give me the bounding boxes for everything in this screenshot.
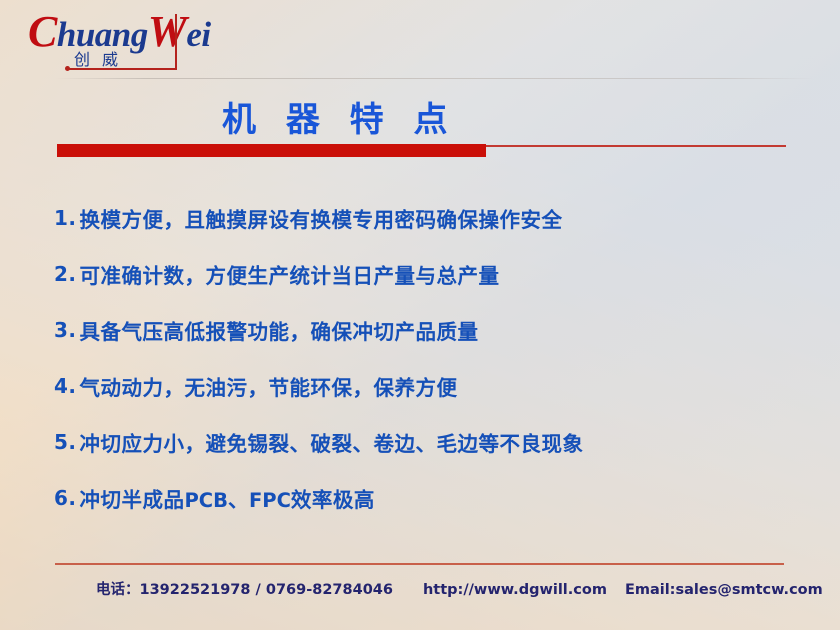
list-item: 4. 气动动力，无油污，节能环保，保养方便 [54,358,794,414]
logo-chinese-name: 创威 [74,46,130,70]
list-item-label-separator: 、 [228,488,249,512]
list-item: 3. 具备气压高低报警功能，确保冲切产品质量 [54,302,794,358]
list-item-label-fpc: FPC [249,489,291,512]
footer-divider [55,563,784,565]
company-logo: ChuangWei 创威 [26,10,182,72]
list-item: 2. 可准确计数，方便生产统计当日产量与总产量 [54,246,794,302]
list-item-label: 具备气压高低报警功能，确保冲切产品质量 [80,315,479,345]
list-item-number: 6. [54,486,77,510]
title-accent-rule [486,145,786,147]
list-item-number: 4. [54,374,77,398]
list-item: 5. 冲切应力小，避免锡裂、破裂、卷边、毛边等不良现象 [54,414,794,470]
logo-letter-w: W [148,7,187,56]
list-item-label: 冲切应力小，避免锡裂、破裂、卷边、毛边等不良现象 [80,427,584,457]
list-item-number: 2. [54,262,77,286]
list-item-label-pre: 冲切半成品 [80,488,185,512]
footer-phone-label: 电话： [96,578,140,599]
list-item-number: 3. [54,318,77,342]
footer-website-link[interactable]: http://www.dgwill.com [423,582,607,598]
list-item-label-pcb: PCB [185,489,228,512]
slide-canvas: ChuangWei 创威 机 器 特 点 1. 换模方便，且触摸屏设有换模专用密… [0,0,840,630]
feature-list: 1. 换模方便，且触摸屏设有换模专用密码确保操作安全 2. 可准确计数，方便生产… [54,190,794,526]
list-item-label: 可准确计数，方便生产统计当日产量与总产量 [80,259,500,289]
list-item: 6. 冲切半成品PCB、FPC效率极高 [54,470,794,526]
logo-letters-ei: ei [186,15,210,54]
list-item: 1. 换模方便，且触摸屏设有换模专用密码确保操作安全 [54,190,794,246]
list-item-label-post: 效率极高 [291,488,375,512]
footer-contact-bar: 电话：13922521978 / 0769-82784046http://www… [96,578,823,599]
footer-email-link[interactable]: Email:sales@smtcw.com [625,582,823,598]
list-item-number: 5. [54,430,77,454]
logo-frame-dot [65,66,70,71]
logo-frame-right-edge [175,14,177,70]
list-item-label: 换模方便，且触摸屏设有换模专用密码确保操作安全 [80,203,563,233]
title-accent-bar [57,144,486,157]
logo-frame-bottom-edge [69,68,177,70]
list-item-number: 1. [54,206,77,230]
list-item-label: 气动动力，无油污，节能环保，保养方便 [80,371,458,401]
footer-phone-numbers: 13922521978 / 0769-82784046 [140,582,393,598]
logo-letter-c: C [28,7,57,56]
header-divider [55,78,815,79]
page-title: 机 器 特 点 [222,92,457,141]
list-item-label: 冲切半成品PCB、FPC效率极高 [80,483,375,513]
